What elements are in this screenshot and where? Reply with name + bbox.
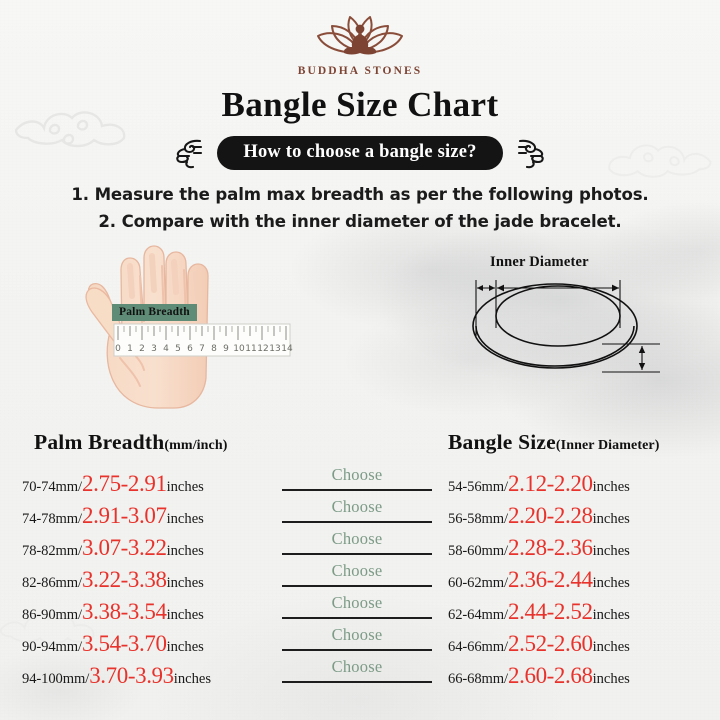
palm-breadth-value: 94-100mm/3.70-3.93inches — [22, 664, 211, 687]
cloud-swirl-ornament-right-icon — [515, 136, 547, 170]
choose-underline — [282, 585, 432, 587]
svg-text:11: 11 — [245, 344, 256, 354]
bangle-inch-unit: inches — [593, 511, 630, 527]
bangle-inch-range: 2.44-2.52 — [508, 599, 593, 624]
svg-text:9: 9 — [223, 344, 229, 354]
svg-text:0: 0 — [115, 344, 121, 354]
svg-text:12: 12 — [257, 344, 268, 354]
bangle-size-value: 58-60mm/2.28-2.36inches — [448, 536, 630, 559]
palm-inch-range: 2.91-3.07 — [82, 503, 167, 528]
palm-breadth-tag: Palm Breadth — [112, 304, 197, 321]
palm-mm-range: 78-82mm/ — [22, 543, 82, 559]
bangle-inch-unit: inches — [593, 607, 630, 623]
bangle-size-value: 62-64mm/2.44-2.52inches — [448, 600, 630, 623]
bangle-header-main: Bangle Size — [448, 430, 556, 454]
palm-mm-range: 90-94mm/ — [22, 639, 82, 655]
choose-underline — [282, 617, 432, 619]
bangle-inch-range: 2.12-2.20 — [508, 471, 593, 496]
bangle-inch-range: 2.36-2.44 — [508, 567, 593, 592]
choose-label[interactable]: Choose — [282, 465, 432, 485]
choose-label[interactable]: Choose — [282, 497, 432, 517]
choose-field[interactable]: Choose — [282, 657, 432, 687]
bangle-size-value: 54-56mm/2.12-2.20inches — [448, 472, 630, 495]
choose-underline — [282, 681, 432, 683]
palm-inch-unit: inches — [167, 479, 204, 495]
palm-breadth-value: 90-94mm/3.54-3.70inches — [22, 632, 204, 655]
bangle-mm-range: 60-62mm/ — [448, 575, 508, 591]
cloud-swirl-ornament-left-icon — [173, 136, 205, 170]
svg-text:7: 7 — [199, 344, 205, 354]
choose-label[interactable]: Choose — [282, 529, 432, 549]
bangle-inch-range: 2.60-2.68 — [508, 663, 593, 688]
svg-text:1: 1 — [127, 344, 133, 354]
bangle-ring-icon — [452, 244, 667, 389]
palm-breadth-column-header: Palm Breadth(mm/inch) — [34, 430, 228, 455]
palm-breadth-value: 78-82mm/3.07-3.22inches — [22, 536, 204, 559]
size-row: 70-74mm/2.75-2.91inchesChoose54-56mm/2.1… — [0, 466, 720, 498]
size-row: 74-78mm/2.91-3.07inchesChoose56-58mm/2.2… — [0, 498, 720, 530]
bangle-size-value: 56-58mm/2.20-2.28inches — [448, 504, 630, 527]
choose-label[interactable]: Choose — [282, 625, 432, 645]
instructions-list: 1. Measure the palm max breadth as per t… — [0, 182, 720, 236]
choose-label[interactable]: Choose — [282, 657, 432, 677]
palm-mm-range: 74-78mm/ — [22, 511, 82, 527]
bangle-size-value: 60-62mm/2.36-2.44inches — [448, 568, 630, 591]
svg-text:8: 8 — [211, 344, 217, 354]
choose-underline — [282, 489, 432, 491]
palm-mm-range: 86-90mm/ — [22, 607, 82, 623]
open-palm-hand-icon: 0 1 2 3 4 5 6 7 8 9 10 11 12 13 14 — [66, 236, 296, 411]
palm-inch-unit: inches — [167, 639, 204, 655]
bangle-inch-unit: inches — [593, 479, 630, 495]
choose-field[interactable]: Choose — [282, 593, 432, 623]
palm-header-main: Palm Breadth — [34, 430, 164, 454]
palm-breadth-value: 70-74mm/2.75-2.91inches — [22, 472, 204, 495]
choose-underline — [282, 649, 432, 651]
bangle-mm-range: 64-66mm/ — [448, 639, 508, 655]
choose-field[interactable]: Choose — [282, 497, 432, 527]
palm-mm-range: 82-86mm/ — [22, 575, 82, 591]
palm-inch-range: 3.38-3.54 — [82, 599, 167, 624]
banner-pill: How to choose a bangle size? — [217, 136, 502, 170]
svg-text:4: 4 — [163, 344, 169, 354]
choose-label[interactable]: Choose — [282, 593, 432, 613]
bangle-inch-unit: inches — [593, 639, 630, 655]
lotus-meditation-icon — [312, 12, 408, 64]
choose-field[interactable]: Choose — [282, 561, 432, 591]
banner-row: How to choose a bangle size? — [0, 136, 720, 170]
size-tables: Palm Breadth(mm/inch) Bangle Size(Inner … — [0, 430, 720, 690]
choose-field[interactable]: Choose — [282, 465, 432, 495]
size-row: 86-90mm/3.38-3.54inchesChoose62-64mm/2.4… — [0, 594, 720, 626]
bangle-size-value: 64-66mm/2.52-2.60inches — [448, 632, 630, 655]
choose-field[interactable]: Choose — [282, 529, 432, 559]
illustrations-area: 0 1 2 3 4 5 6 7 8 9 10 11 12 13 14 Palm … — [0, 244, 720, 424]
palm-inch-range: 3.22-3.38 — [82, 567, 167, 592]
choose-field[interactable]: Choose — [282, 625, 432, 655]
bangle-inch-range: 2.20-2.28 — [508, 503, 593, 528]
bangle-inch-unit: inches — [593, 575, 630, 591]
palm-inch-range: 3.70-3.93 — [89, 663, 174, 688]
instruction-line-2: 2. Compare with the inner diameter of th… — [0, 209, 720, 236]
bangle-mm-range: 62-64mm/ — [448, 607, 508, 623]
choose-underline — [282, 521, 432, 523]
palm-inch-unit: inches — [167, 607, 204, 623]
size-rows: 70-74mm/2.75-2.91inchesChoose54-56mm/2.1… — [0, 466, 720, 690]
size-row: 94-100mm/3.70-3.93inchesChoose66-68mm/2.… — [0, 658, 720, 690]
brand-header: BUDDHA STONES — [0, 0, 720, 77]
ruler-icon: 0 1 2 3 4 5 6 7 8 9 10 11 12 13 14 — [114, 324, 293, 356]
palm-inch-range: 3.07-3.22 — [82, 535, 167, 560]
palm-breadth-value: 82-86mm/3.22-3.38inches — [22, 568, 204, 591]
palm-mm-range: 70-74mm/ — [22, 479, 82, 495]
size-row: 78-82mm/3.07-3.22inchesChoose58-60mm/2.2… — [0, 530, 720, 562]
bangle-inch-unit: inches — [593, 671, 630, 687]
bangle-size-value: 66-68mm/2.60-2.68inches — [448, 664, 630, 687]
bangle-size-column-header: Bangle Size(Inner Diameter) — [448, 430, 660, 455]
instruction-line-1: 1. Measure the palm max breadth as per t… — [0, 182, 720, 209]
palm-mm-range: 94-100mm/ — [22, 671, 89, 687]
bangle-header-sub: (Inner Diameter) — [556, 438, 660, 453]
palm-inch-unit: inches — [167, 575, 204, 591]
svg-text:2: 2 — [139, 344, 145, 354]
palm-inch-unit: inches — [167, 511, 204, 527]
choose-label[interactable]: Choose — [282, 561, 432, 581]
bangle-mm-range: 58-60mm/ — [448, 543, 508, 559]
palm-breadth-value: 74-78mm/2.91-3.07inches — [22, 504, 204, 527]
svg-text:3: 3 — [151, 344, 157, 354]
palm-header-sub: (mm/inch) — [164, 438, 227, 453]
table-headers: Palm Breadth(mm/inch) Bangle Size(Inner … — [0, 430, 720, 460]
svg-text:10: 10 — [233, 344, 245, 354]
bangle-inch-range: 2.52-2.60 — [508, 631, 593, 656]
bangle-inch-unit: inches — [593, 543, 630, 559]
svg-text:14: 14 — [281, 344, 293, 354]
choose-underline — [282, 553, 432, 555]
size-row: 82-86mm/3.22-3.38inchesChoose60-62mm/2.3… — [0, 562, 720, 594]
palm-breadth-value: 86-90mm/3.38-3.54inches — [22, 600, 204, 623]
bangle-inch-range: 2.28-2.36 — [508, 535, 593, 560]
bangle-mm-range: 56-58mm/ — [448, 511, 508, 527]
bangle-mm-range: 54-56mm/ — [448, 479, 508, 495]
bangle-mm-range: 66-68mm/ — [448, 671, 508, 687]
palm-inch-unit: inches — [167, 543, 204, 559]
page-title: Bangle Size Chart — [0, 85, 720, 125]
svg-text:13: 13 — [269, 344, 280, 354]
size-row: 90-94mm/3.54-3.70inchesChoose64-66mm/2.5… — [0, 626, 720, 658]
brand-name: BUDDHA STONES — [0, 65, 720, 77]
palm-inch-unit: inches — [174, 671, 211, 687]
palm-inch-range: 2.75-2.91 — [82, 471, 167, 496]
svg-text:6: 6 — [187, 344, 193, 354]
svg-text:5: 5 — [175, 344, 181, 354]
palm-inch-range: 3.54-3.70 — [82, 631, 167, 656]
